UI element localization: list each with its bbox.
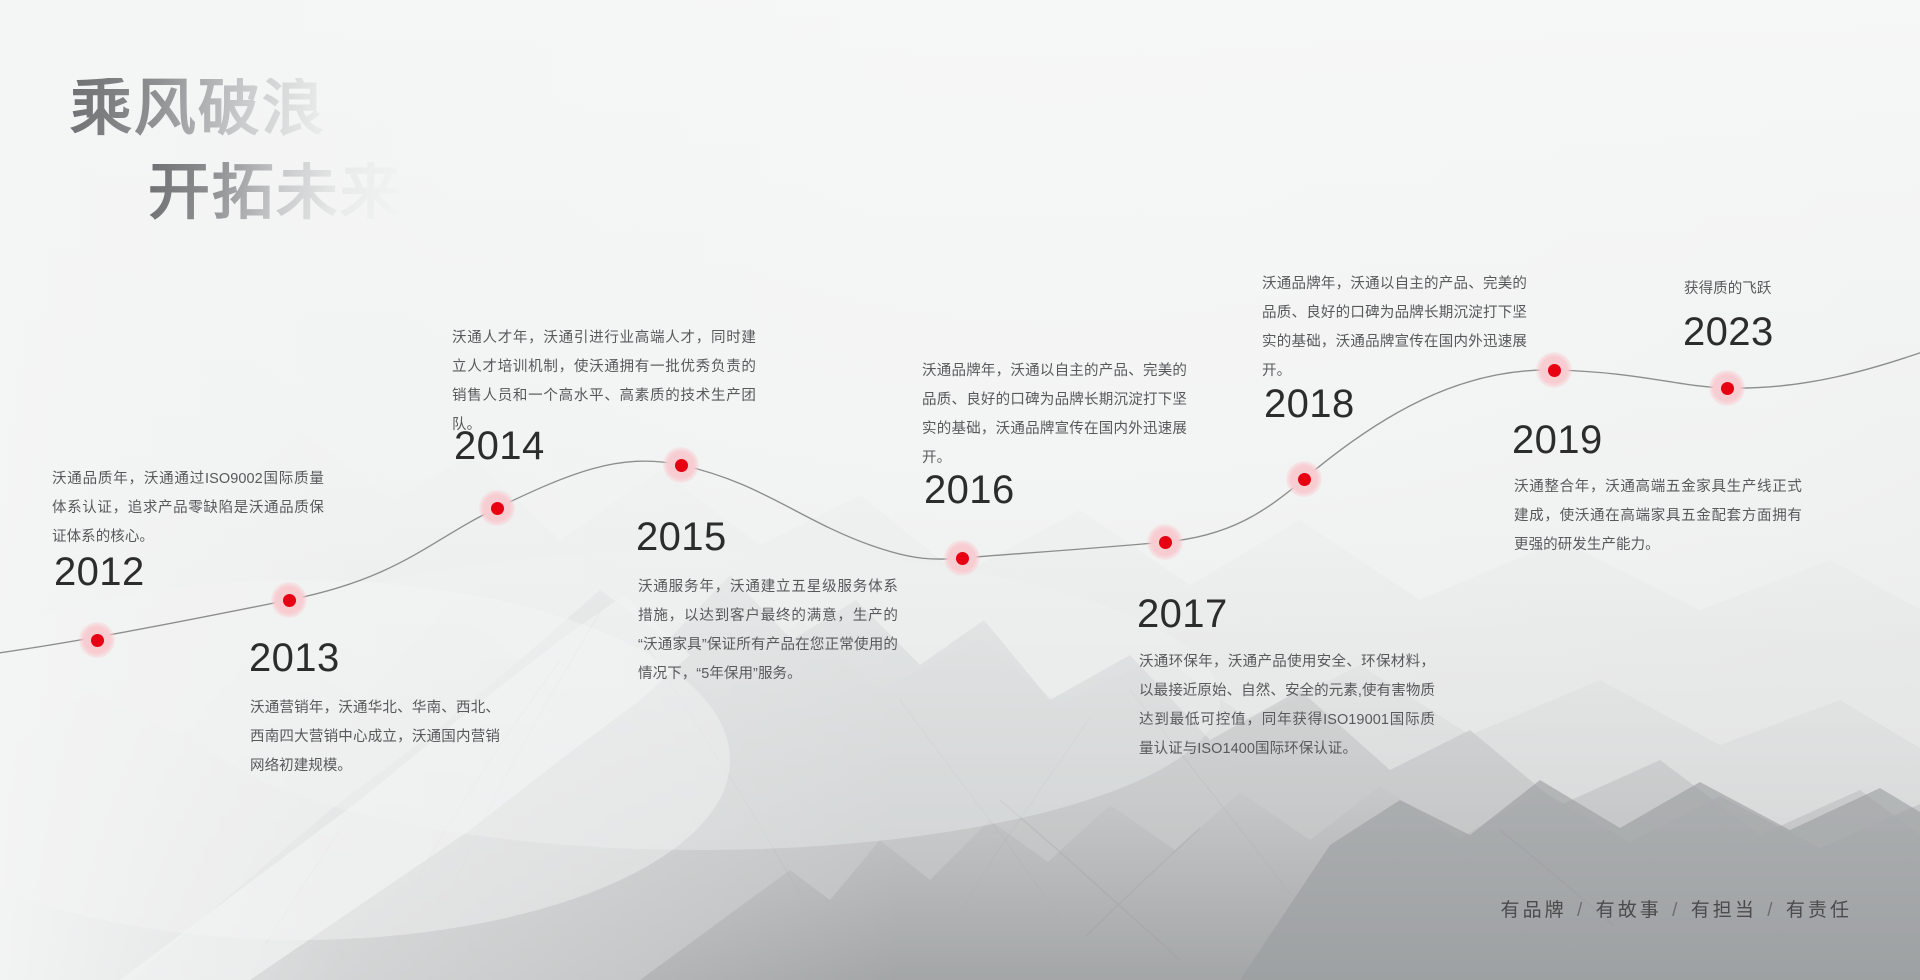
title-line-2: 开拓未来 [148, 162, 404, 224]
tagline-item-4: 有责任 [1786, 900, 1852, 921]
marker-dot-icon [283, 594, 296, 607]
milestone-2015-dot[interactable] [479, 490, 515, 526]
milestone-2013-dot[interactable] [271, 582, 307, 618]
milestone-2014-dot[interactable] [663, 447, 699, 483]
footer-tagline: 有品牌 / 有故事 / 有担当 / 有责任 [1501, 895, 1852, 922]
marker-dot-icon [91, 634, 104, 647]
marker-dot-icon [675, 459, 688, 472]
milestone-2019-dot[interactable] [1536, 352, 1572, 388]
milestone-2016-description: 沃通品牌年，沃通以自主的产品、完美的品质、良好的口碑为品牌长期沉淀打下坚实的基础… [922, 357, 1187, 473]
title-line-1: 乘风破浪 [70, 78, 404, 140]
marker-dot-icon [1721, 382, 1734, 395]
milestone-2016-year: 2016 [924, 470, 1015, 510]
milestone-2018-description: 沃通品牌年，沃通以自主的产品、完美的品质、良好的口碑为品牌长期沉淀打下坚实的基础… [1262, 270, 1527, 386]
milestone-2012-description: 沃通品质年，沃通通过ISO9002国际质量体系认证，追求产品零缺陷是沃通品质保证… [52, 465, 324, 552]
marker-dot-icon [491, 502, 504, 515]
slide-canvas: 乘风破浪 开拓未来 沃通品质年，沃通通过ISO9002国际质量体系认证，追求产品… [0, 0, 1920, 980]
milestone-2015-year: 2015 [636, 517, 727, 557]
milestone-2019-year: 2019 [1512, 420, 1603, 460]
milestone-2015-description: 沃通服务年，沃通建立五星级服务体系措施，以达到客户最终的满意，生产的“沃通家具”… [638, 573, 898, 689]
tagline-item-1: 有品牌 [1501, 900, 1567, 921]
marker-dot-icon [956, 552, 969, 565]
milestone-2023-year: 2023 [1683, 312, 1774, 352]
milestone-2017-year: 2017 [1137, 594, 1228, 634]
milestone-2013-description: 沃通营销年，沃通华北、华南、西北、西南四大营销中心成立，沃通国内营销网络初建规模… [250, 694, 500, 781]
milestone-2017-description: 沃通环保年，沃通产品使用安全、环保材料，以最接近原始、自然、安全的元素,使有害物… [1139, 648, 1435, 764]
milestone-2023-description: 获得质的飞跃 [1684, 278, 1884, 301]
milestone-2019-description: 沃通整合年，沃通高端五金家具生产线正式建成，使沃通在高端家具五金配套方面拥有更强… [1514, 473, 1802, 560]
milestone-2014-description: 沃通人才年，沃通引进行业高端人才，同时建立人才培训机制，使沃通拥有一批优秀负责的… [452, 324, 756, 440]
milestone-2013-year: 2013 [249, 638, 340, 678]
tagline-separator-3: / [1765, 900, 1777, 921]
milestone-2018-year: 2018 [1264, 384, 1355, 424]
milestone-2012-dot[interactable] [79, 622, 115, 658]
milestone-2017-dot[interactable] [1147, 524, 1183, 560]
milestone-2018-dot[interactable] [1286, 461, 1322, 497]
marker-dot-icon [1159, 536, 1172, 549]
milestone-2012-year: 2012 [54, 552, 145, 592]
milestone-2023-dot[interactable] [1709, 370, 1745, 406]
marker-dot-icon [1298, 473, 1311, 486]
tagline-item-3: 有担当 [1691, 900, 1757, 921]
tagline-item-2: 有故事 [1596, 900, 1662, 921]
marker-dot-icon [1548, 364, 1561, 377]
page-title: 乘风破浪 开拓未来 [70, 78, 404, 224]
milestone-2016-dot[interactable] [944, 540, 980, 576]
tagline-separator-2: / [1670, 900, 1682, 921]
tagline-separator-1: / [1575, 900, 1587, 921]
milestone-2014-year: 2014 [454, 426, 545, 466]
